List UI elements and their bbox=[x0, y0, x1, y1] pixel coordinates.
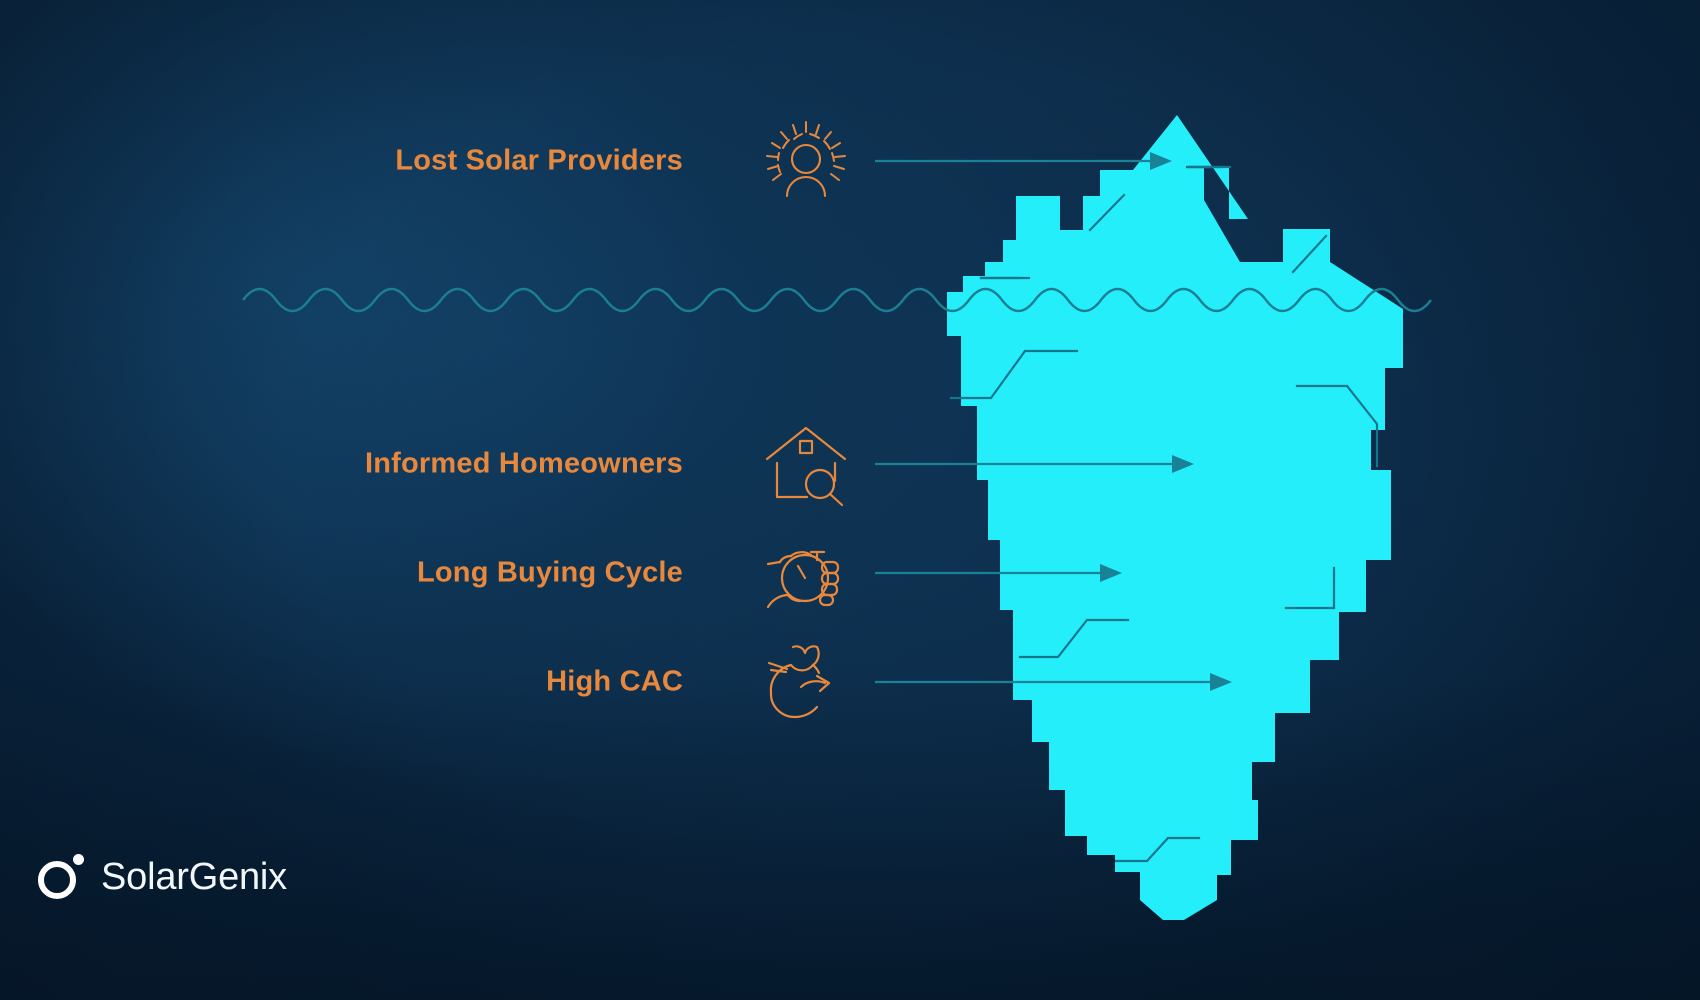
slide-canvas: Lost Solar Providers Informed Homeowners… bbox=[0, 0, 1700, 1000]
iceberg-shape bbox=[947, 115, 1403, 920]
connector-lost-solar-providers bbox=[875, 152, 1172, 170]
brand-logo[interactable]: SolarGenix bbox=[38, 854, 287, 900]
label-long-buying-cycle: Long Buying Cycle bbox=[417, 559, 683, 588]
sun-person-icon bbox=[763, 118, 849, 204]
ring-dot-logo-icon bbox=[38, 854, 84, 900]
label-lost-solar-providers: Lost Solar Providers bbox=[395, 147, 683, 176]
money-bag-arrow-icon bbox=[763, 639, 849, 725]
house-magnifier-icon bbox=[763, 421, 849, 507]
hand-stopwatch-icon bbox=[763, 530, 849, 616]
logo-ring bbox=[38, 861, 76, 899]
iceberg-diagram bbox=[0, 0, 1700, 1000]
label-high-cac: High CAC bbox=[546, 668, 683, 697]
logo-dot bbox=[73, 854, 84, 865]
label-informed-homeowners: Informed Homeowners bbox=[365, 450, 683, 479]
brand-name: SolarGenix bbox=[101, 858, 287, 896]
